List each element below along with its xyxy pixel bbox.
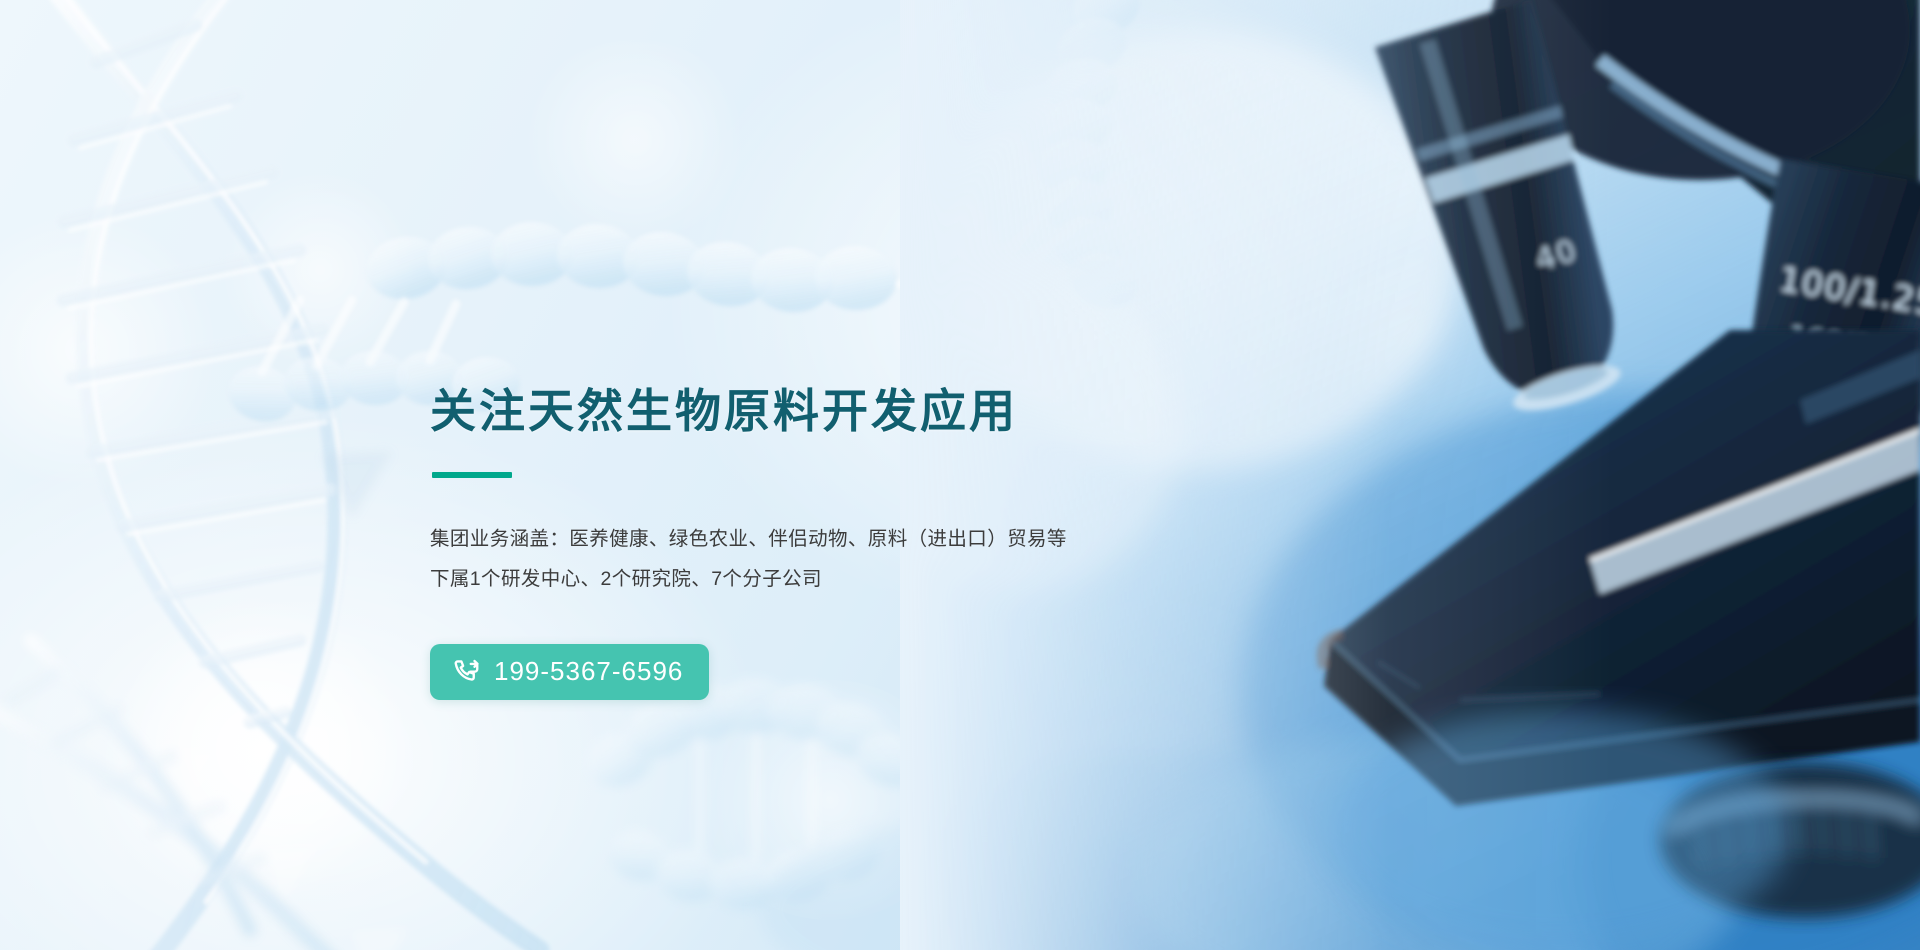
phone-number-label: 199-5367-6596 [494,658,683,686]
hero-description-line-2: 下属1个研发中心、2个研究院、7个分子公司 [430,560,1250,600]
bokeh-light-3 [220,170,420,370]
bokeh-light-5 [1290,60,1530,300]
title-divider [432,472,512,478]
hero-description: 集团业务涵盖：医养健康、绿色农业、伴侣动物、原料（进出口）贸易等 下属1个研发中… [430,520,1250,600]
bokeh-light-2 [0,210,220,490]
hero-banner: 40 100/1.25 160/0.17 100 [0,0,1920,950]
bokeh-light-1 [110,600,410,900]
bokeh-light-8 [520,40,750,240]
svg-text:100: 100 [1765,456,1825,494]
hero-description-line-1: 集团业务涵盖：医养健康、绿色农业、伴侣动物、原料（进出口）贸易等 [430,520,1250,560]
svg-text:100/1.25: 100/1.25 [1776,260,1920,325]
hero-content: 关注天然生物原料开发应用 集团业务涵盖：医养健康、绿色农业、伴侣动物、原料（进出… [430,385,1250,700]
bokeh-light-7 [700,680,960,920]
svg-text:160/0.17: 160/0.17 [1786,321,1918,372]
phone-forward-icon [452,657,482,687]
page-title: 关注天然生物原料开发应用 [430,385,1250,438]
bokeh-light-6 [1330,250,1500,420]
svg-text:40: 40 [1532,233,1583,279]
phone-cta-button[interactable]: 199-5367-6596 [430,644,709,700]
